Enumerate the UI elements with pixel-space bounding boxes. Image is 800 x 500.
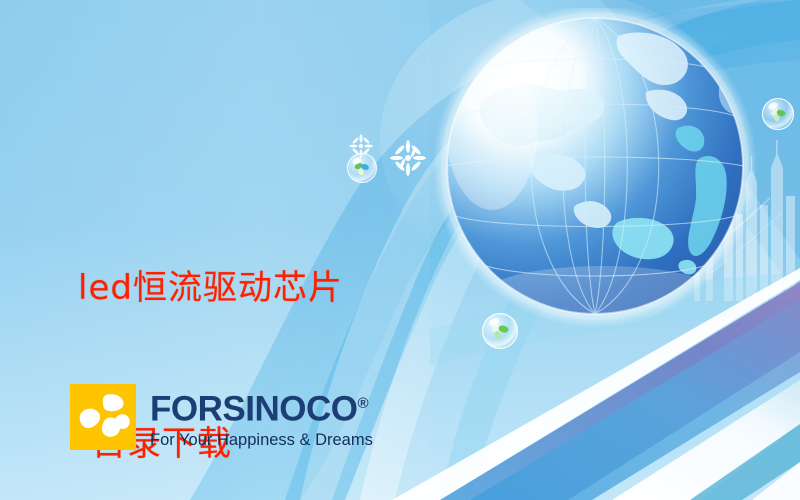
pinwheel-bubble-right-icon <box>761 97 795 131</box>
earth-globe <box>432 8 762 338</box>
brand-name-text: FORSINOCO <box>150 390 357 429</box>
brand-tagline: For Your Happiness & Dreams <box>150 430 373 450</box>
pinwheel-bubble-center-icon <box>481 312 519 350</box>
registered-trademark-icon: ® <box>357 395 368 412</box>
company-logo[interactable]: FORSINOCO® For Your Happiness & Dreams <box>70 384 373 450</box>
starburst-large-icon <box>390 140 426 176</box>
four-petal-pinwheel-icon <box>70 384 136 450</box>
headline-line-1: led恒流驱动芯片 <box>78 262 343 314</box>
pinwheel-bubble-left-icon <box>346 152 378 184</box>
logo-wordmark: FORSINOCO® For Your Happiness & Dreams <box>150 384 373 450</box>
brand-name: FORSINOCO® <box>150 386 373 428</box>
promo-banner: led恒流驱动芯片 目录下载 FORSINOCO® For Your Happi… <box>0 0 800 500</box>
